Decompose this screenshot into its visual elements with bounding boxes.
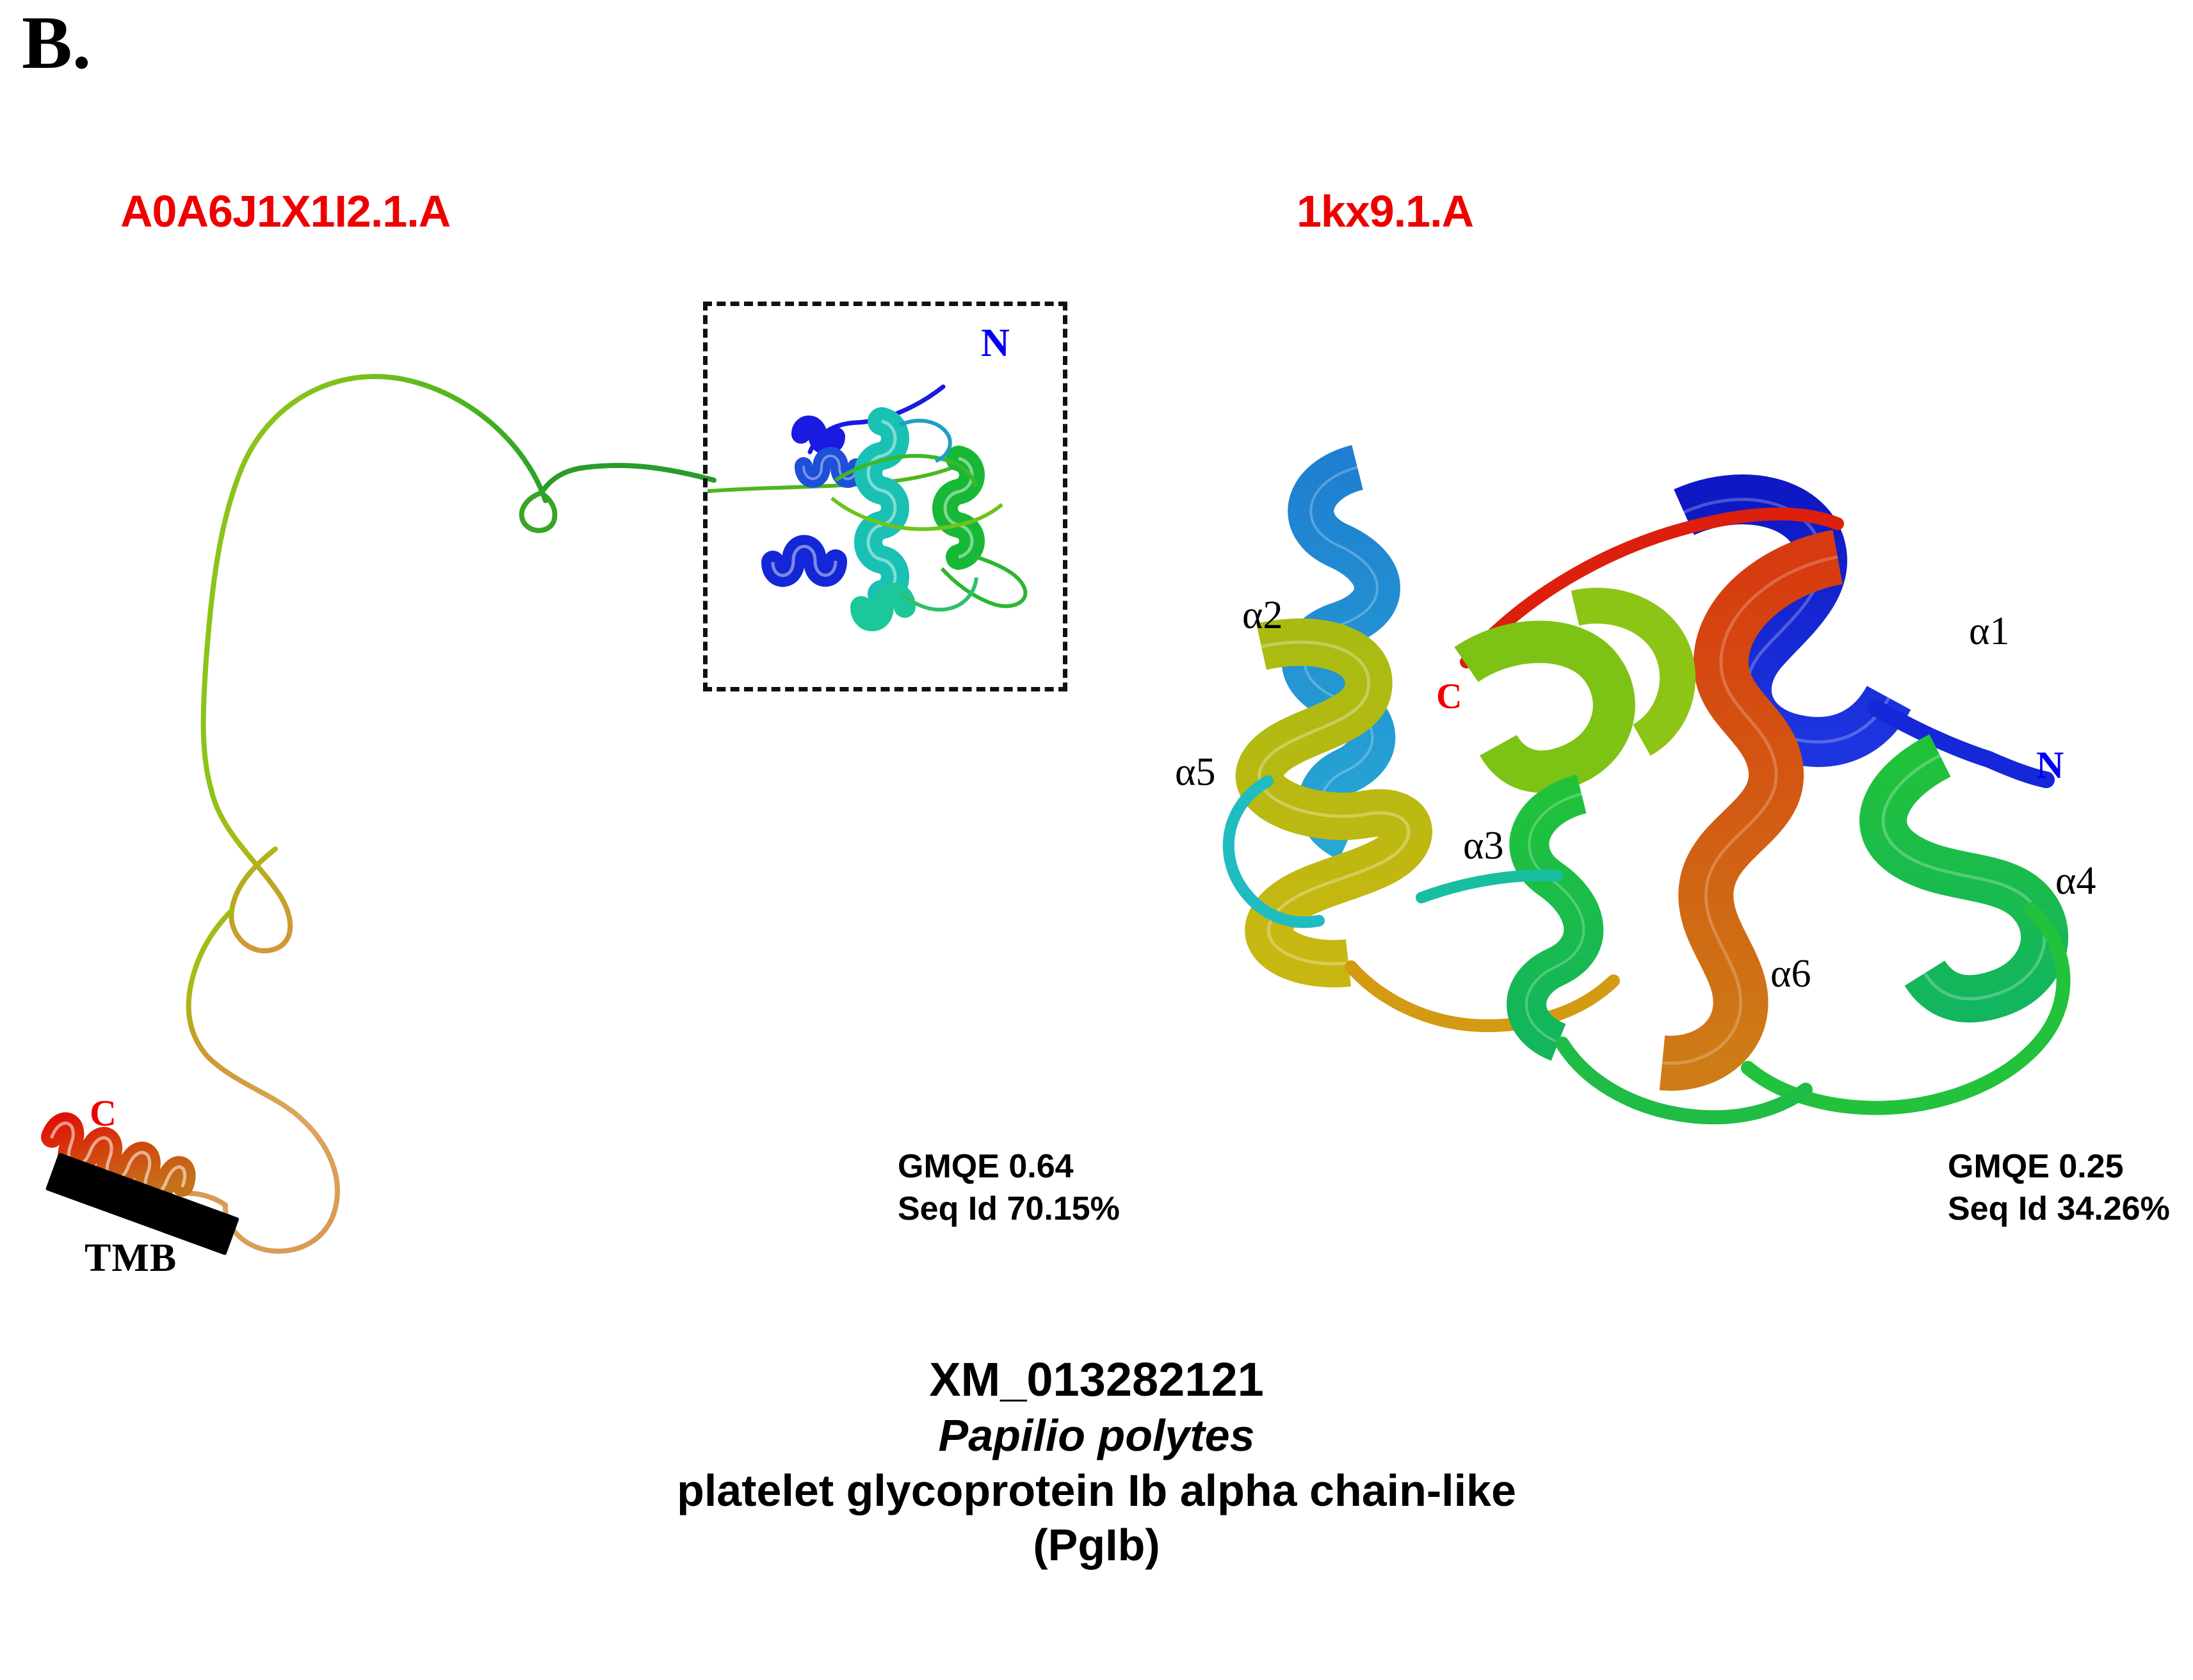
loop-yellow-bottom xyxy=(1351,967,1614,1026)
helix-label-alpha-4: α4 xyxy=(2055,861,2096,901)
helix-alpha-4-ribbon xyxy=(1748,755,2064,1108)
loop-green-bottom xyxy=(1562,1044,1806,1117)
c-terminal-red-strand xyxy=(1466,514,1838,662)
seq-id-value-right: Seq Id 34.26% xyxy=(1948,1188,2170,1231)
n-terminus-label-right: N xyxy=(2036,746,2064,784)
inset-domain-box xyxy=(703,302,1067,691)
figure-panel-b: B. A0A6J1X1I2.1.A xyxy=(0,0,2193,1680)
caption-accession: XM_013282121 xyxy=(0,1351,2193,1409)
helix-alpha-2-ribbon xyxy=(1304,467,1377,839)
c-terminus-label-right: C xyxy=(1436,679,1462,715)
n-terminus-label-left: N xyxy=(981,323,1010,363)
figure-caption: XM_013282121 Papilio polytes platelet gl… xyxy=(0,1351,2193,1572)
helix-label-alpha-1: α1 xyxy=(1969,611,2009,651)
seq-id-value-left: Seq Id 70.15% xyxy=(898,1188,1120,1231)
right-model-structure xyxy=(1165,397,2190,1191)
model-quality-stats-left: GMQE 0.64 Seq Id 70.15% xyxy=(898,1146,1120,1230)
model-id-right: 1kx9.1.A xyxy=(1297,186,1473,237)
caption-protein-name: platelet glycoprotein Ib alpha chain-lik… xyxy=(0,1464,2193,1518)
gmqe-value-right: GMQE 0.25 xyxy=(1948,1146,2170,1188)
helix-alpha-1-ribbon xyxy=(1684,499,1989,759)
helix-alpha-5-ribbon xyxy=(1259,642,1409,964)
transmembrane-label: TMB xyxy=(85,1236,177,1281)
c-terminus-label-left: C xyxy=(90,1095,117,1132)
caption-protein-abbreviation: (PgIb) xyxy=(0,1518,2193,1572)
helix-red-orange-ribbon xyxy=(1662,557,1838,1063)
helix-label-alpha-3: α3 xyxy=(1463,826,1503,866)
helix-label-alpha-5: α5 xyxy=(1175,752,1215,792)
model-id-left: A0A6J1X1I2.1.A xyxy=(120,186,450,237)
helix-lime-centre xyxy=(1466,606,1678,771)
panel-letter: B. xyxy=(22,5,91,81)
helix-label-alpha-6: α6 xyxy=(1770,954,1811,994)
model-quality-stats-right: GMQE 0.25 Seq Id 34.26% xyxy=(1948,1146,2170,1230)
gmqe-value-left: GMQE 0.64 xyxy=(898,1146,1120,1188)
left-model-backbone-trace xyxy=(189,376,714,1251)
helix-label-alpha-2: α2 xyxy=(1242,595,1283,635)
loop-cyan-lower-left xyxy=(1229,781,1319,922)
caption-species: Papilio polytes xyxy=(0,1409,2193,1463)
